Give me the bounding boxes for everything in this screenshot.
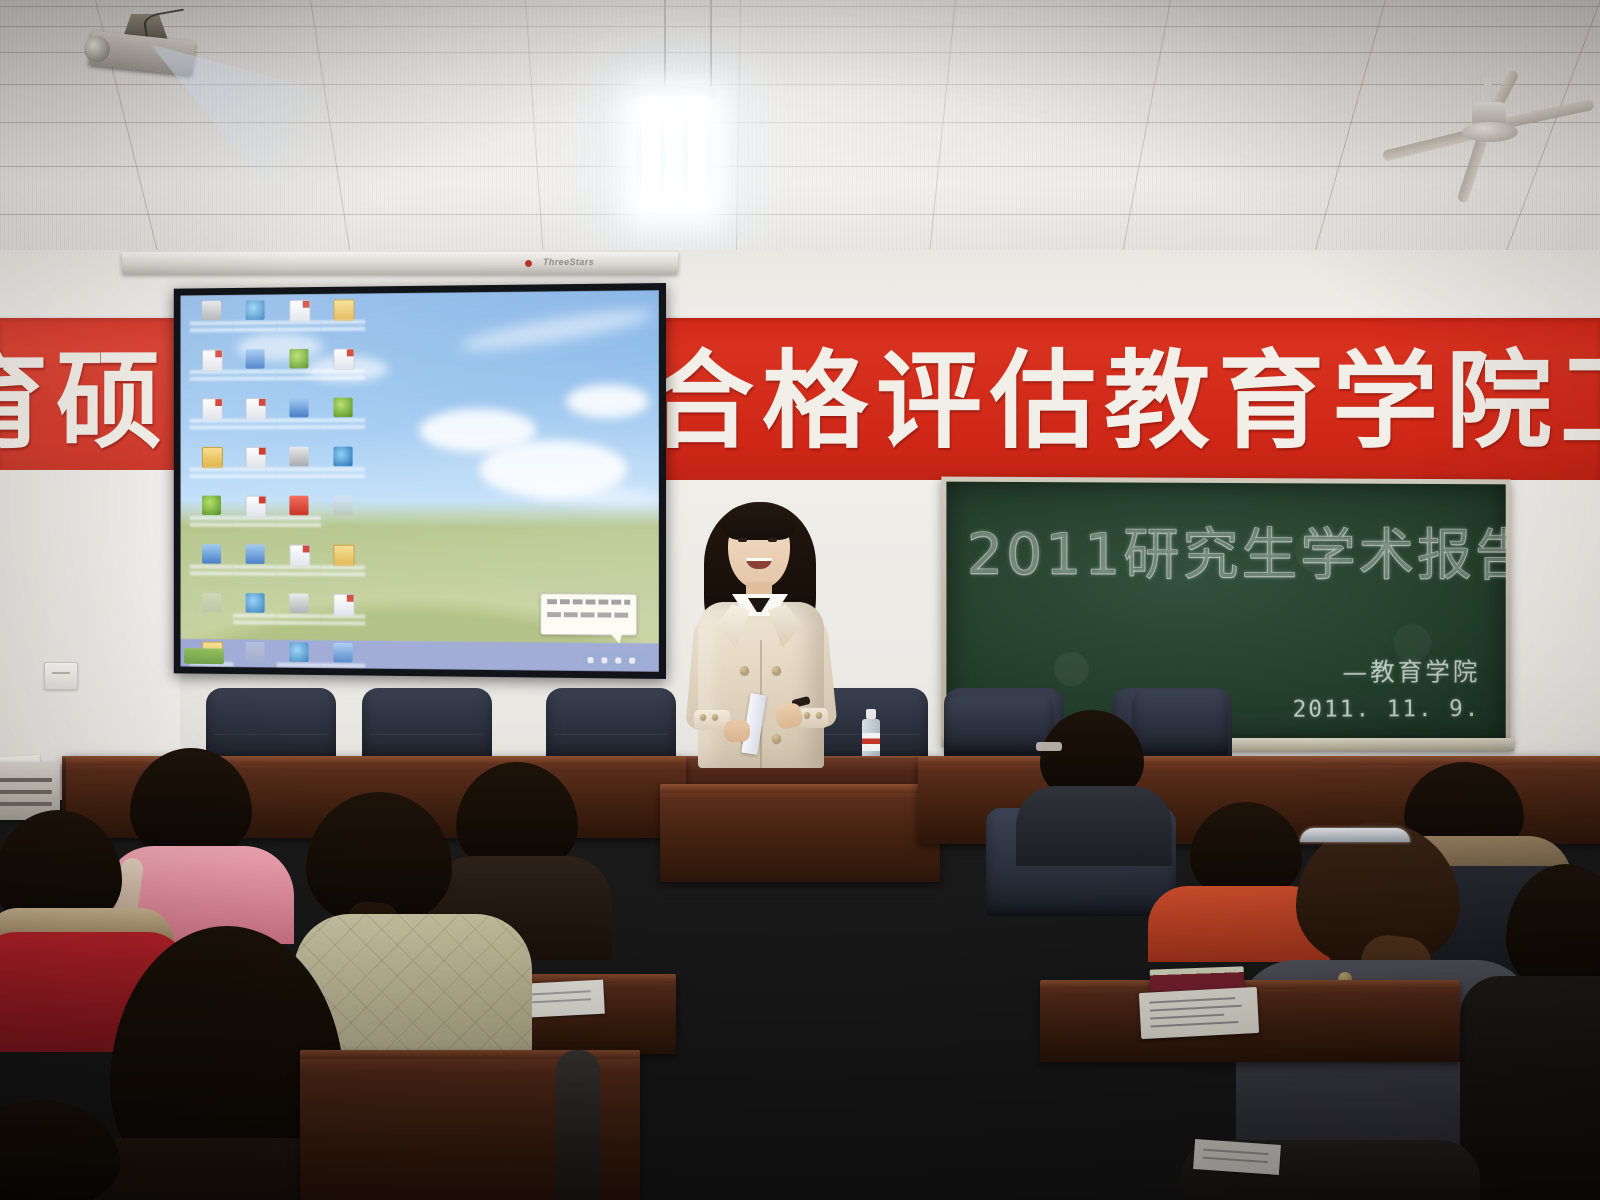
- seat-armrest[interactable]: [556, 1050, 600, 1200]
- handout-sheet[interactable]: [1193, 1139, 1281, 1175]
- desktop-icon[interactable]: [277, 642, 321, 679]
- presenter-fringe: [722, 504, 796, 540]
- desktop-icon[interactable]: [190, 301, 233, 342]
- desktop-icon[interactable]: [277, 349, 321, 390]
- desktop-icon[interactable]: [277, 447, 321, 488]
- banner-main-text: 合格评估教育学院工作汇报会: [648, 340, 1600, 464]
- desktop-icon[interactable]: [190, 447, 233, 488]
- desktop-icon[interactable]: [190, 349, 233, 390]
- audience-desk: [660, 786, 940, 882]
- desktop-icon-grid[interactable]: [190, 299, 377, 679]
- hair-headband-icon: [1300, 828, 1410, 842]
- banner-left-text: 育硕: [0, 340, 170, 464]
- notification-balloon[interactable]: [540, 593, 637, 636]
- audience-body: [1016, 786, 1172, 866]
- desk-edge: [660, 784, 940, 793]
- desktop-icon[interactable]: [321, 496, 365, 537]
- wall-outlet-icon: [44, 662, 78, 690]
- desktop-icon[interactable]: [233, 496, 277, 537]
- desktop-icon[interactable]: [190, 544, 233, 585]
- ceiling-tile-line: [0, 52, 1600, 53]
- screen-roller-housing: ThreeStars: [122, 252, 678, 274]
- desktop-icon[interactable]: [190, 398, 233, 439]
- desktop-icon[interactable]: [190, 593, 233, 634]
- brand-mark-icon: [525, 260, 532, 267]
- open-notebook[interactable]: [1139, 987, 1259, 1039]
- desktop-icon[interactable]: [321, 348, 365, 390]
- ceiling-tile-line: [0, 26, 1600, 27]
- desktop-icon[interactable]: [321, 397, 365, 438]
- audience-head: [0, 1100, 120, 1200]
- projection-screen: [174, 283, 666, 679]
- desktop-icon[interactable]: [277, 300, 321, 342]
- desktop-icon[interactable]: [321, 594, 365, 636]
- ceiling-fan-icon: [1398, 78, 1598, 170]
- desktop-icon[interactable]: [277, 593, 321, 634]
- eyeglasses-icon: [1036, 742, 1062, 751]
- fluorescent-lamp-icon: [636, 96, 712, 212]
- blackboard-signature: —教育学院: [1342, 653, 1480, 689]
- audience-area: [0, 700, 1600, 1200]
- desktop-icon[interactable]: [233, 544, 277, 585]
- desktop-icon[interactable]: [233, 447, 277, 488]
- desktop-icon[interactable]: [321, 447, 365, 488]
- desktop-icon[interactable]: [233, 300, 277, 341]
- desktop-icon[interactable]: [321, 545, 365, 586]
- projector-cables: [142, 9, 188, 40]
- desktop-icon[interactable]: [321, 299, 365, 341]
- screen-brand-label: ThreeStars: [543, 257, 594, 267]
- desktop-icon[interactable]: [277, 496, 321, 537]
- blackboard-title: 2011研究生学术报告会: [967, 524, 1506, 587]
- desktop-icon[interactable]: [277, 398, 321, 439]
- ceiling-tile-line: [0, 166, 1600, 167]
- ceiling-tile-line: [0, 214, 1600, 215]
- desktop-icon[interactable]: [233, 398, 277, 439]
- desktop-icon[interactable]: [277, 545, 321, 586]
- lamp-suspension-stems: [660, 0, 720, 100]
- desktop-icon[interactable]: [233, 593, 277, 634]
- start-button[interactable]: [184, 648, 224, 664]
- ceiling: [0, 0, 1600, 262]
- auditorium-seat[interactable]: [1132, 690, 1228, 756]
- audience-body: [1460, 976, 1600, 1200]
- system-tray[interactable]: [582, 653, 651, 668]
- lecture-hall-photo: 育硕 合格评估教育学院工作汇报会 ThreeStars: [0, 0, 1600, 1200]
- desk-edge: [918, 756, 1600, 765]
- ceiling-tile-line: [0, 6, 1600, 7]
- desktop-icon[interactable]: [321, 643, 365, 679]
- desktop-icon[interactable]: [190, 496, 233, 537]
- desktop-icon[interactable]: [233, 349, 277, 390]
- desktop-icon[interactable]: [233, 642, 277, 679]
